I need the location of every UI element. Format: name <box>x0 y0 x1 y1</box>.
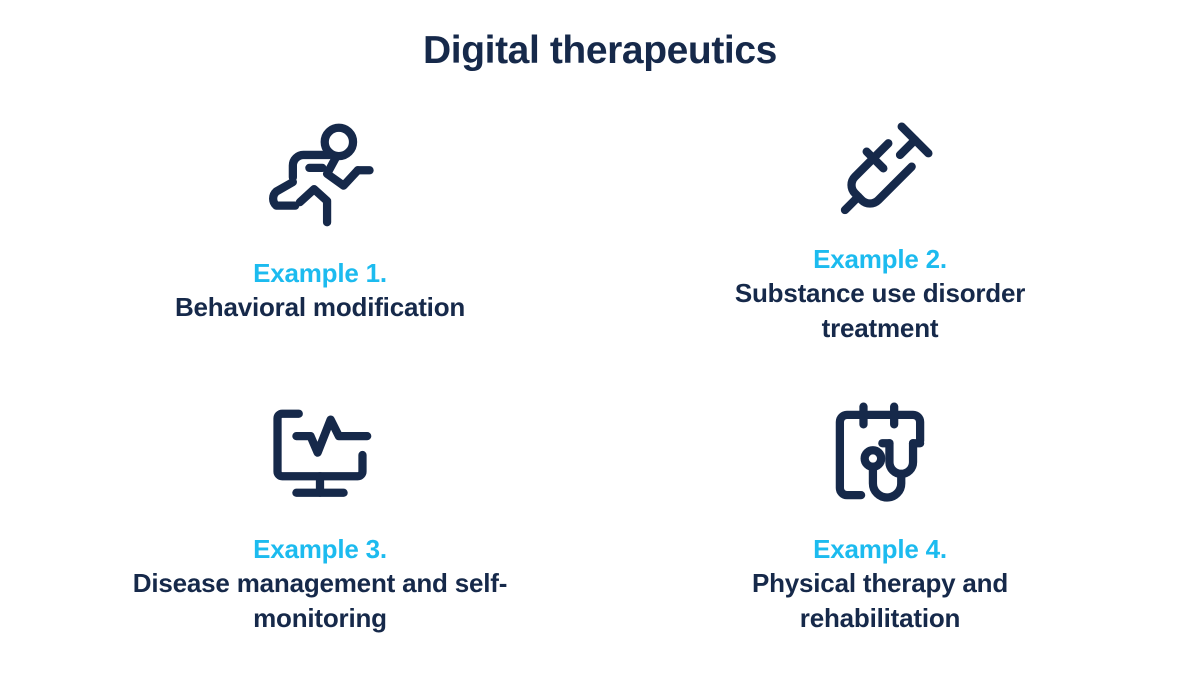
example-card-1-text: Behavioral modification <box>175 290 465 324</box>
example-card-2-text: Substance use disorder treatment <box>680 276 1080 345</box>
running-person-icon <box>261 116 379 234</box>
page-title: Digital therapeutics <box>0 30 1200 73</box>
example-card-2-label: Example 2. <box>813 242 947 276</box>
syringe-icon <box>821 116 939 234</box>
example-card-3: Example 3. Disease management and self-m… <box>60 388 580 668</box>
examples-grid: Example 1. Behavioral modification Examp… <box>60 108 1140 668</box>
example-card-4: Example 4. Physical therapy and rehabili… <box>620 388 1140 668</box>
example-card-4-text: Physical therapy and rehabilitation <box>680 566 1080 635</box>
example-card-1: Example 1. Behavioral modification <box>60 108 580 388</box>
slide: Digital therapeutics Example 1. Behavior… <box>0 0 1200 675</box>
example-card-4-label: Example 4. <box>813 532 947 566</box>
example-card-1-label: Example 1. <box>253 256 387 290</box>
example-card-2: Example 2. Substance use disorder treatm… <box>620 108 1140 388</box>
monitor-heartbeat-icon <box>261 396 379 514</box>
calendar-stethoscope-icon <box>821 396 939 514</box>
example-card-3-label: Example 3. <box>253 532 387 566</box>
example-card-3-text: Disease management and self-monitoring <box>120 566 520 635</box>
